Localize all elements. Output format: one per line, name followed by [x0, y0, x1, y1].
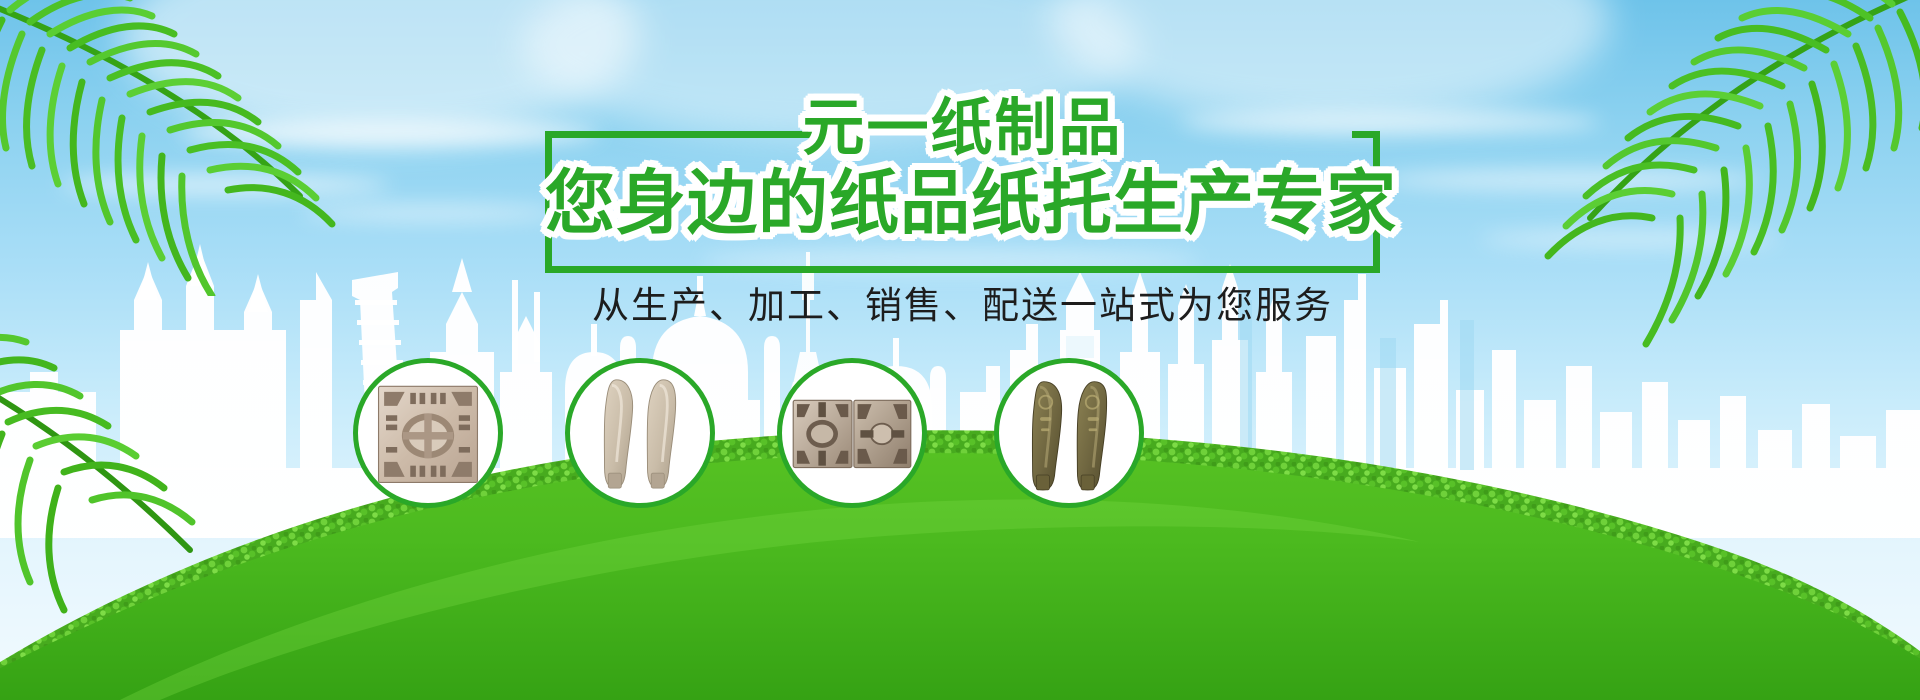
product-circle-2[interactable] [565, 358, 715, 508]
molded-pulp-twin-trays-icon [782, 363, 922, 503]
product-circle-4[interactable] [994, 358, 1144, 508]
banner-subtitle: 从生产、加工、销售、配送一站式为您服务 [545, 282, 1380, 330]
headline-frame: 元一纸制品 您身边的纸品纸托生产专家 [545, 93, 1380, 273]
headline-line-2: 您身边的纸品纸托生产专家 [545, 157, 1380, 249]
frame-rule-bottom [545, 266, 1380, 273]
headline-line-1: 元一纸制品 [545, 89, 1380, 167]
product-circle-3[interactable] [777, 358, 927, 508]
promotional-banner: 元一纸制品 您身边的纸品纸托生产专家 从生产、加工、销售、配送一站式为您服务 [0, 0, 1920, 700]
molded-pulp-shoe-forms-icon [999, 363, 1139, 503]
molded-pulp-square-tray-icon [358, 363, 498, 503]
product-circle-1[interactable] [353, 358, 503, 508]
molded-pulp-shoe-inserts-icon [570, 363, 710, 503]
